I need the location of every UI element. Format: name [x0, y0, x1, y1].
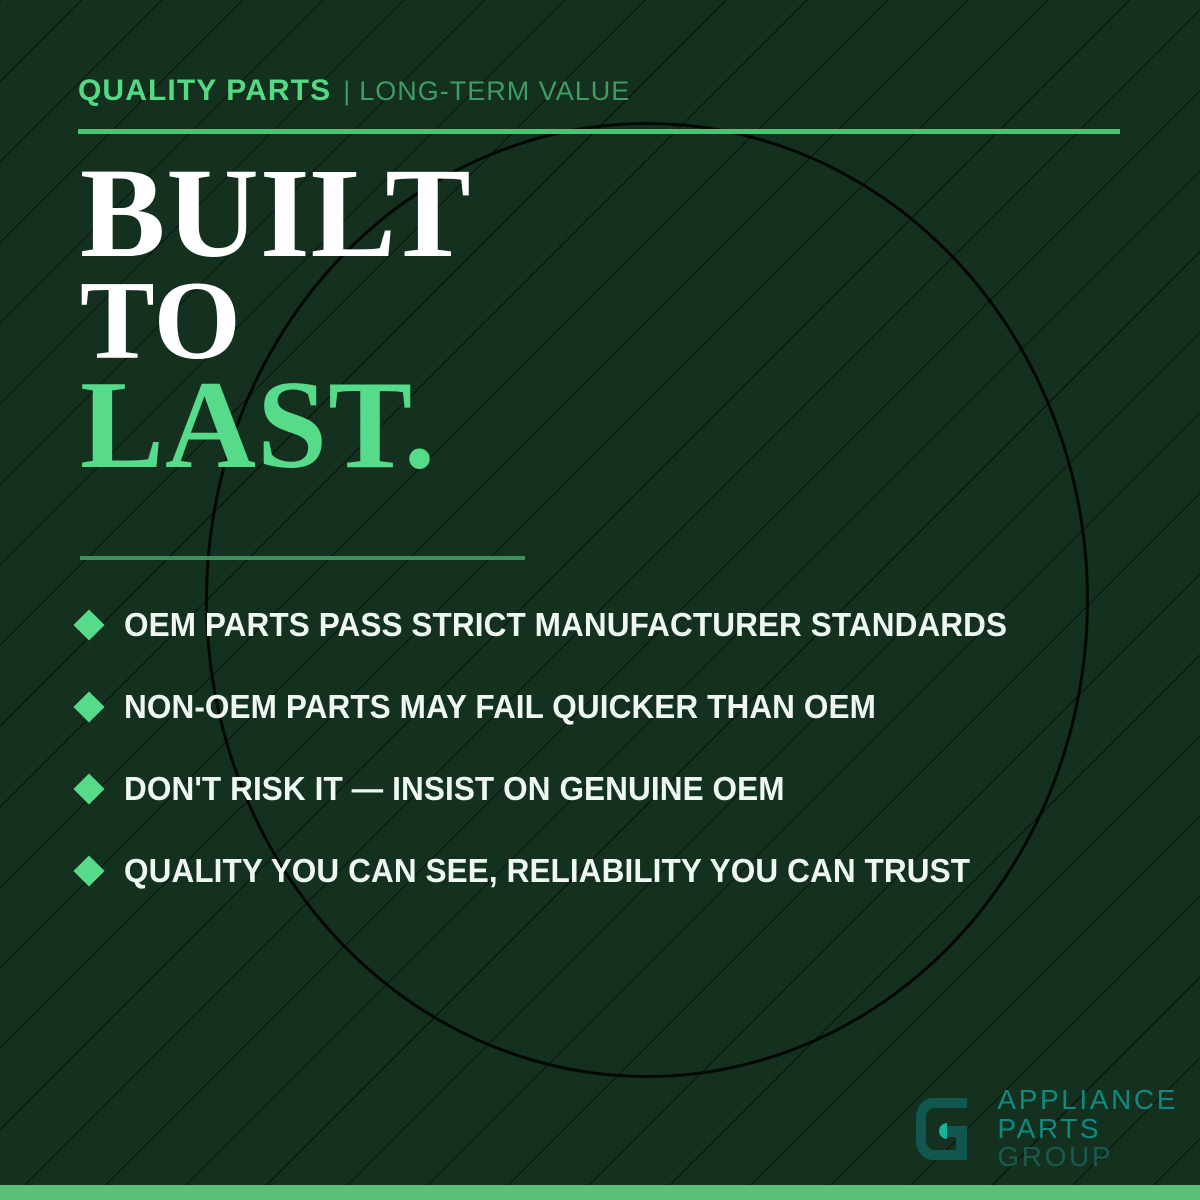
- poster-content: QUALITY PARTS | LONG-TERM VALUE BUILT TO…: [0, 0, 1200, 1200]
- eyebrow-main-label: QUALITY PARTS: [78, 74, 331, 108]
- list-item: NON-OEM PARTS MAY FAIL QUICKER THAN OEM: [78, 666, 1148, 748]
- headline: BUILT TO LAST.: [80, 154, 472, 484]
- eyebrow: QUALITY PARTS | LONG-TERM VALUE: [78, 74, 630, 108]
- list-item-label: NON-OEM PARTS MAY FAIL QUICKER THAN OEM: [124, 688, 876, 726]
- list-item: DON'T RISK IT — INSIST ON GENUINE OEM: [78, 748, 1148, 830]
- list-item-label: DON'T RISK IT — INSIST ON GENUINE OEM: [124, 770, 785, 808]
- list-item-label: QUALITY YOU CAN SEE, RELIABILITY YOU CAN…: [124, 852, 970, 890]
- brand-logo: APPLIANCE PARTS GROUP: [911, 1086, 1178, 1172]
- eyebrow-separator: |: [343, 76, 350, 107]
- g-monogram-icon: [911, 1092, 985, 1166]
- list-item: QUALITY YOU CAN SEE, RELIABILITY YOU CAN…: [78, 830, 1148, 912]
- list-item: OEM PARTS PASS STRICT MANUFACTURER STAND…: [78, 584, 1148, 666]
- diamond-bullet-icon: [73, 691, 104, 722]
- eyebrow-sub-label: LONG-TERM VALUE: [359, 76, 630, 107]
- diamond-bullet-icon: [73, 855, 104, 886]
- diamond-bullet-icon: [73, 609, 104, 640]
- bullet-list: OEM PARTS PASS STRICT MANUFACTURER STAND…: [78, 584, 1148, 912]
- headline-line-1: BUILT: [80, 154, 472, 273]
- poster-canvas: QUALITY PARTS | LONG-TERM VALUE BUILT TO…: [0, 0, 1200, 1200]
- headline-line-3: LAST.: [80, 367, 472, 484]
- bottom-accent-bar: [0, 1185, 1200, 1200]
- header-divider-rule: [78, 129, 1120, 134]
- headline-divider-rule: [80, 556, 525, 560]
- diamond-bullet-icon: [73, 773, 104, 804]
- brand-wordmark-line-3: GROUP: [997, 1143, 1178, 1172]
- brand-wordmark-line-1: APPLIANCE: [997, 1086, 1178, 1115]
- list-item-label: OEM PARTS PASS STRICT MANUFACTURER STAND…: [124, 606, 1007, 644]
- brand-wordmark-line-2: PARTS: [997, 1115, 1178, 1144]
- brand-wordmark: APPLIANCE PARTS GROUP: [997, 1086, 1178, 1172]
